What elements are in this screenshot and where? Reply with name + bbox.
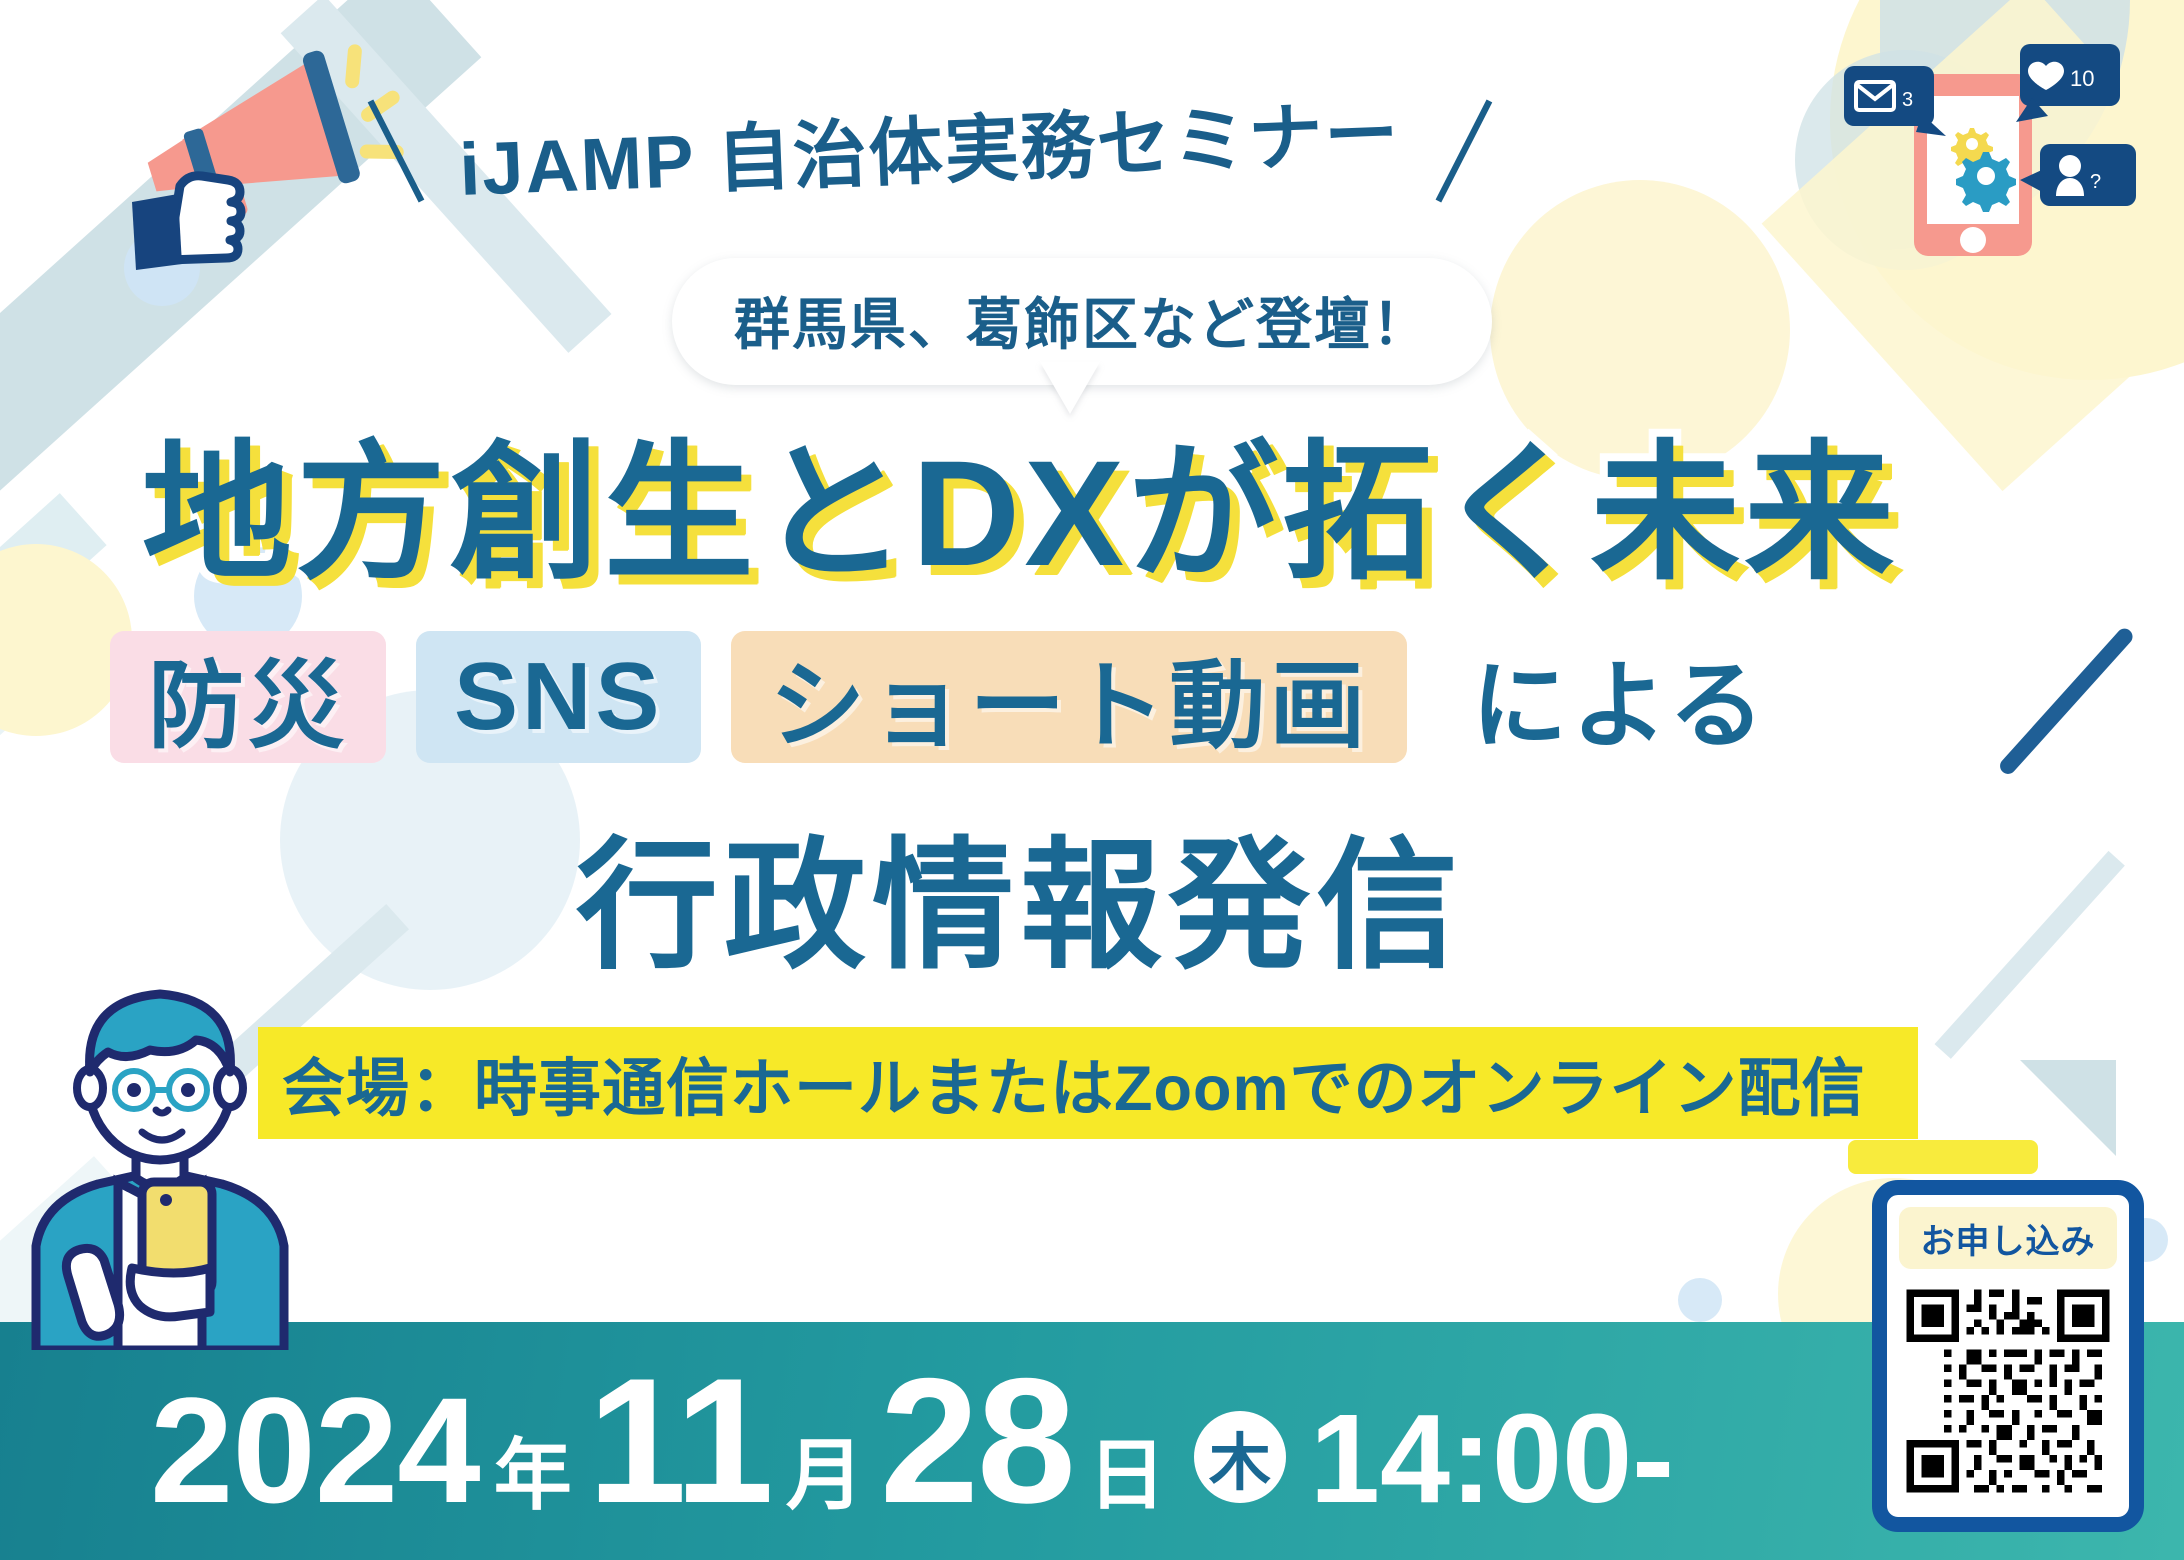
tag-suffix-text: による: [1471, 628, 1768, 767]
person-with-phone-icon: [6, 950, 326, 1350]
tag-sns: SNS: [416, 631, 701, 763]
mail-bubble: 3: [1844, 66, 1946, 136]
smartphone-social-illustration: 3 10 ?: [1794, 18, 2184, 298]
person-illustration: [6, 950, 326, 1350]
svg-text:3: 3: [1902, 89, 1913, 111]
person-bubble: ?: [2020, 144, 2136, 206]
tag-sns-label: SNS: [454, 642, 663, 752]
speech-bubble-tail: [1040, 362, 1100, 414]
event-date-bar: 2024 年 11 月 28 日 木 14:00-: [0, 1322, 2184, 1560]
svg-text:?: ?: [2090, 171, 2101, 193]
event-date-inner: 2024 年 11 月 28 日 木 14:00-: [0, 1352, 1674, 1530]
date-day: 28: [880, 1352, 1074, 1530]
date-weekday-badge: 木: [1194, 1411, 1286, 1503]
tag-short-video-label: ショート動画: [769, 628, 1369, 767]
smartphone-social-icon: 3 10 ?: [1794, 18, 2184, 308]
date-year-unit: 年: [494, 1436, 572, 1514]
date-time: 14:00-: [1310, 1396, 1674, 1522]
seminar-title: iJAMP 自治体実務セミナー: [440, 73, 1421, 217]
venue-bar: 会場：時事通信ホールまたはZoomでのオンライン配信: [258, 1027, 1918, 1139]
main-headline-text: 地方創生とDXが拓く未来: [142, 392, 1898, 609]
venue-text: 会場：時事通信ホールまたはZoomでのオンライン配信: [258, 1038, 1865, 1129]
heart-bubble: 10: [2016, 44, 2120, 122]
topic-tag-row: 防災 SNS ショート動画 による: [110, 612, 2070, 782]
date-month: 11: [588, 1352, 772, 1530]
qr-label-text: お申し込み: [1921, 1214, 2096, 1263]
qr-label-box: お申し込み: [1899, 1207, 2117, 1269]
main-headline: 地方創生とDXが拓く未来: [0, 392, 2040, 609]
application-qr-panel[interactable]: お申し込み: [1872, 1180, 2144, 1532]
date-year: 2024: [150, 1375, 480, 1525]
tag-bousai: 防災: [110, 631, 386, 763]
banner-stage: 3 10 ? ＼ iJAMP 自治体実務セミナー ／ 群馬県、: [0, 0, 2184, 1560]
tag-short-video: ショート動画: [731, 631, 1407, 763]
speech-bubble-text: 群馬県、葛飾区など登壇！: [734, 293, 1430, 356]
tag-bousai-label: 防災: [148, 628, 348, 767]
svg-text:10: 10: [2070, 66, 2094, 91]
sub-headline-text: 行政情報発信: [576, 790, 1464, 996]
qr-code[interactable]: [1899, 1277, 2117, 1505]
seminar-title-row: ＼ iJAMP 自治体実務セミナー ／: [430, 70, 1430, 220]
date-month-unit: 月: [786, 1436, 864, 1514]
date-day-unit: 日: [1088, 1436, 1166, 1514]
